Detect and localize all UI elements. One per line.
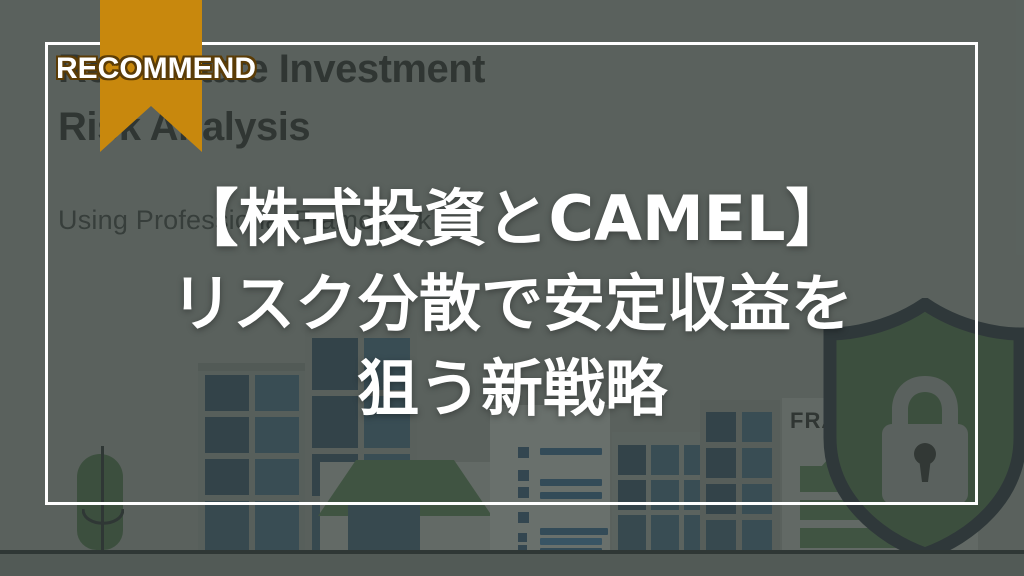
headline: 【株式投資とCAMEL】 リスク分散で安定収益を 狙う新戦略: [0, 176, 1024, 431]
headline-line-2: リスク分散で安定収益を: [0, 261, 1024, 346]
headline-line-1: 【株式投資とCAMEL】: [0, 176, 1024, 261]
thumbnail-canvas: Real Estate Investment Risk Analysis Usi…: [0, 0, 1024, 576]
headline-line-3: 狙う新戦略: [0, 346, 1024, 431]
recommend-ribbon-label: RECOMMEND: [56, 52, 256, 86]
